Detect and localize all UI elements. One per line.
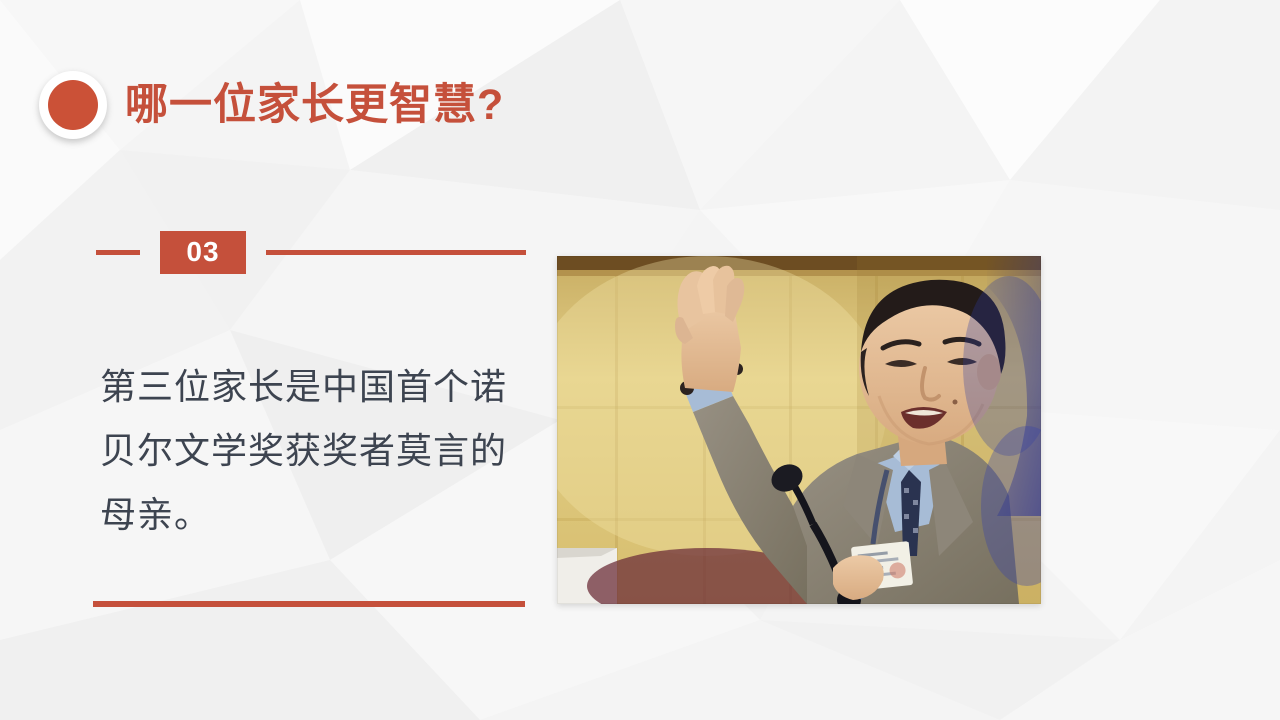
circle-dot-inner [48, 80, 98, 130]
body-paragraph: 第三位家长是中国首个诺贝尔文学奖获奖者莫言的母亲。 [100, 355, 530, 547]
section-marker-row: 03 [0, 230, 560, 274]
section-rule-right [266, 250, 526, 255]
speaker-photo [557, 256, 1041, 604]
circle-dot-icon [39, 71, 107, 139]
page-title: 哪一位家长更智慧? [125, 84, 504, 127]
bottom-accent-rule [93, 601, 525, 607]
speaker-photo-illustration [557, 256, 1041, 604]
slide-title-row: 哪一位家长更智慧? [0, 60, 504, 150]
presentation-slide: 哪一位家长更智慧? 03 第三位家长是中国首个诺贝尔文学奖获奖者莫言的母亲。 [0, 0, 1280, 720]
section-number-badge: 03 [160, 231, 246, 274]
section-dash-left [96, 250, 140, 255]
